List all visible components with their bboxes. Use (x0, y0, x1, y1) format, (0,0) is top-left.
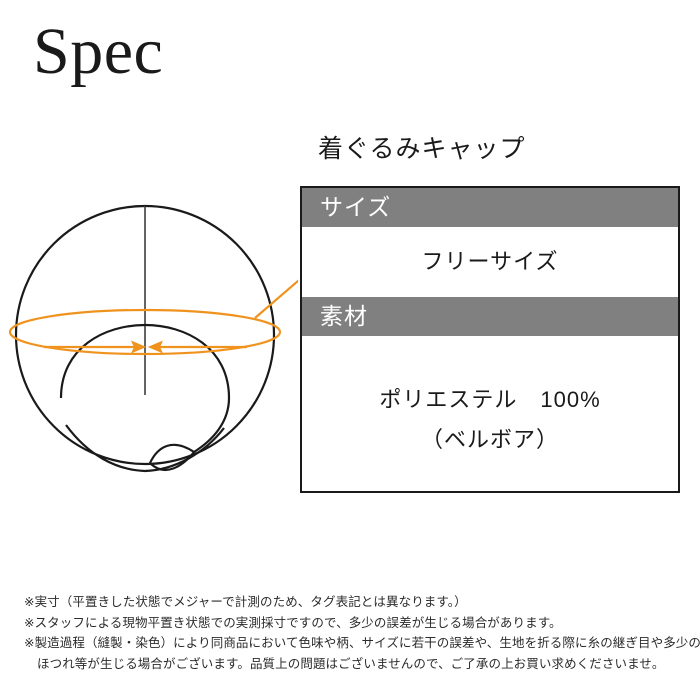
spec-page: Spec 着ぐるみキャップ (0, 0, 700, 700)
footnote-line-1: ※実寸（平置きした状態でメジャーで計測のため、タグ表記とは異なります。） (24, 592, 684, 613)
spec-row-header-size: サイズ (302, 188, 678, 227)
footnote-line-2: ※スタッフによる現物平置き状態での実測採寸ですので、多少の誤差が生じる場合があり… (24, 613, 684, 634)
footnote-line-4: ほつれ等が生じる場合がございます。品質上の問題はございませんので、ご了承の上お買… (24, 654, 684, 675)
spec-row-value-material: ポリエステル 100% （ベルボア） (302, 336, 678, 491)
material-composition-line: ポリエステル 100% (302, 380, 678, 420)
product-name-heading: 着ぐるみキャップ (318, 129, 526, 165)
leader-line-to-table (255, 262, 298, 318)
material-fabric-line: （ベルボア） (302, 420, 678, 460)
spec-row-header-material: 素材 (302, 297, 678, 336)
head-measurement-illustration (8, 190, 298, 490)
footnote-line-3: ※製造過程（縫製・染色）により同商品において色味や柄、サイズに若干の誤差や、生地… (24, 633, 684, 654)
footnotes-block: ※実寸（平置きした状態でメジャーで計測のため、タグ表記とは異なります。） ※スタ… (24, 592, 684, 674)
spec-row-value-size: フリーサイズ (302, 227, 678, 297)
page-title: Spec (33, 19, 163, 85)
illustration-svg (8, 190, 298, 490)
spec-table: サイズ フリーサイズ 素材 ポリエステル 100% （ベルボア） (300, 186, 680, 493)
